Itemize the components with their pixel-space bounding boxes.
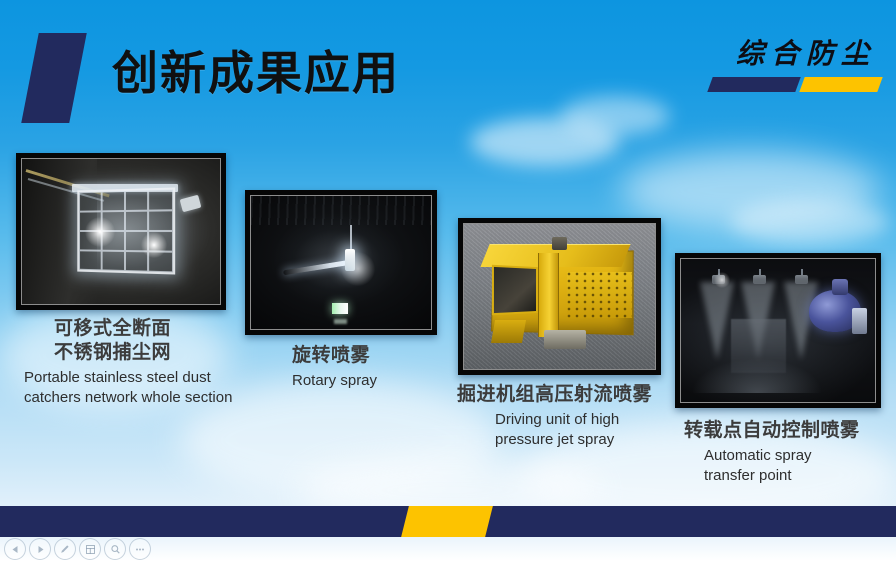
photo-card-automatic-spray[interactable] [675,253,881,408]
caption-en-line2: pressure jet spray [455,430,652,450]
search-icon[interactable] [104,538,126,560]
photo-card-rotary-spray[interactable] [245,190,437,335]
cloud-decoration [560,96,670,136]
caption-en-line1: Automatic spray [684,446,860,466]
photo-image-automatic-spray [680,258,876,403]
caption-dust-catcher-net: 可移式全断面 不锈钢捕尘网 Portable stainless steel d… [24,317,232,408]
cloud-decoration [470,118,620,166]
caption-zh-line2: 不锈钢捕尘网 [24,341,232,365]
caption-zh-line1: 可移式全断面 [24,317,232,341]
play-icon[interactable] [29,538,51,560]
caption-rotary-spray: 旋转喷雾 Rotary spray [292,344,377,391]
grid-icon[interactable] [79,538,101,560]
photo-card-driving-unit[interactable] [458,218,661,375]
photo-card-dust-catcher-net[interactable] [16,153,226,310]
more-icon[interactable] [129,538,151,560]
photo-image-dust-catcher-net [21,158,221,305]
caption-en-line1: Rotary spray [292,371,377,391]
cloud-decoration [730,200,890,245]
brand-logo: 综合防尘 [702,32,882,102]
caption-en-line1: Driving unit of high [455,410,652,430]
footer-gold-parallelogram [401,506,493,537]
caption-driving-unit: 掘进机组高压射流喷雾 Driving unit of high pressure… [455,383,652,450]
brand-bar-navy [707,77,800,92]
caption-en-line2: catchers network whole section [24,388,232,408]
photo-image-rotary-spray [250,195,432,330]
photo-image-driving-unit [463,223,656,370]
viewer-toolbar [4,538,151,560]
brand-title: 综合防尘 [736,32,876,72]
caption-automatic-spray: 转载点自动控制喷雾 Automatic spray transfer point [684,419,860,486]
caption-en-line2: transfer point [684,466,860,486]
title-accent-parallelogram [21,33,86,123]
caption-en-line1: Portable stainless steel dust [24,368,232,388]
caption-zh-line1: 旋转喷雾 [292,344,377,368]
caption-zh-line1: 转载点自动控制喷雾 [684,419,860,443]
page-title: 创新成果应用 [112,44,400,104]
pen-icon[interactable] [54,538,76,560]
caption-zh-line1: 掘进机组高压射流喷雾 [455,383,652,407]
brand-bar-gold [799,77,882,92]
previous-icon[interactable] [4,538,26,560]
slide-canvas: 创新成果应用 综合防尘 [0,0,896,561]
